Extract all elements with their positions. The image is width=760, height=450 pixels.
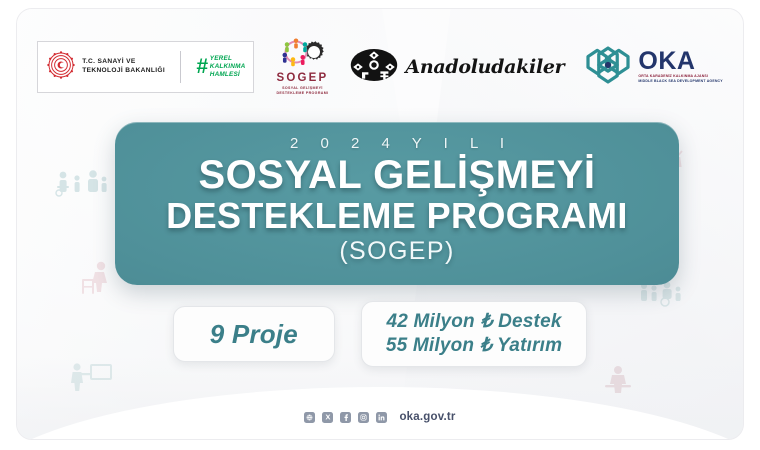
stat-projects-value: 9 Proje xyxy=(210,320,298,349)
decor-worker-icon xyxy=(603,365,635,393)
anadoludakiler-logo: Anadoludakiler xyxy=(350,47,564,88)
facebook-icon[interactable] xyxy=(340,412,351,423)
oka-logo: OKA ORTA KARADENİZ KALKINMA AJANSI MIDDL… xyxy=(586,45,722,90)
yerel-line-2: KALKINMA xyxy=(210,63,246,71)
sogep-gear-people-icon xyxy=(279,37,325,72)
oka-knot-icon xyxy=(586,45,630,90)
website-url[interactable]: oka.gov.tr xyxy=(399,411,455,423)
poster-card: T.C. SANAYİ VE TEKNOLOJİ BAKANLIĞI # YER… xyxy=(16,8,744,440)
stat-card-funding: 42 Milyon ₺ Destek 55 Milyon ₺ Yatırım xyxy=(361,301,587,367)
anadoludakiler-oval-motif-icon xyxy=(350,47,398,88)
oka-logo-text: OKA ORTA KARADENİZ KALKINMA AJANSI MIDDL… xyxy=(638,50,722,84)
ministry-line-2: TEKNOLOJİ BAKANLIĞI xyxy=(82,67,165,76)
oka-wordmark: OKA xyxy=(638,50,695,74)
linkedin-icon[interactable] xyxy=(376,412,387,423)
page-title-acronym: (SOGEP) xyxy=(339,237,454,266)
sogep-logo-subtitle: SOSYAL GELİŞMEYİ DESTEKLEME PROGRAMI xyxy=(276,86,328,97)
decor-people-group-icon xyxy=(55,169,109,199)
hashtag-icon: # xyxy=(196,59,208,76)
yerel-kalkinma-text: YEREL KALKINMA HAMLESİ xyxy=(210,55,246,79)
stats-row: 9 Proje 42 Milyon ₺ Destek 55 Milyon ₺ Y… xyxy=(17,301,743,367)
logo-divider xyxy=(180,51,181,83)
page-title-line-1: SOSYAL GELİŞMEYİ xyxy=(198,155,595,196)
ministry-line-1: T.C. SANAYİ VE xyxy=(82,58,165,67)
website-icon[interactable] xyxy=(304,412,315,423)
background-sweep-bottom xyxy=(17,357,743,440)
stat-support-value: 42 Milyon ₺ Destek xyxy=(386,310,561,334)
footer-bar: oka.gov.tr xyxy=(17,411,743,423)
turkish-republic-emblem-icon xyxy=(46,50,76,85)
sogep-logo: SOGEP SOSYAL GELİŞMEYİ DESTEKLEME PROGRA… xyxy=(276,37,328,96)
ministry-logo-box: T.C. SANAYİ VE TEKNOLOJİ BAKANLIĞI # YER… xyxy=(37,41,254,93)
yerel-line-1: YEREL xyxy=(210,55,246,63)
yerel-kalkinma-logo: # YEREL KALKINMA HAMLESİ xyxy=(189,55,245,79)
stat-investment-value: 55 Milyon ₺ Yatırım xyxy=(386,334,562,358)
yerel-line-3: HAMLESİ xyxy=(210,71,246,79)
x-twitter-icon[interactable] xyxy=(322,412,333,423)
sogep-sub-line-2: DESTEKLEME PROGRAMI xyxy=(276,91,328,96)
decor-elderly-walker-icon xyxy=(80,261,114,297)
anadoludakiler-wordmark: Anadoludakiler xyxy=(405,56,564,78)
ministry-logo: T.C. SANAYİ VE TEKNOLOJİ BAKANLIĞI xyxy=(46,50,172,85)
partner-logo-strip: T.C. SANAYİ VE TEKNOLOJİ BAKANLIĞI # YER… xyxy=(17,33,743,101)
sogep-announcement-poster: T.C. SANAYİ VE TEKNOLOJİ BAKANLIĞI # YER… xyxy=(0,0,760,450)
page-title-line-2: DESTEKLEME PROGRAMI xyxy=(166,198,628,235)
sogep-logo-name: SOGEP xyxy=(276,73,328,85)
ministry-logo-text: T.C. SANAYİ VE TEKNOLOJİ BAKANLIĞI xyxy=(82,58,165,76)
instagram-icon[interactable] xyxy=(358,412,369,423)
oka-sub-line-2: MIDDLE BLACK SEA DEVELOPMENT AGENCY xyxy=(638,79,722,84)
program-year: 2 0 2 4 Y I L I xyxy=(281,135,513,152)
stat-card-projects: 9 Proje xyxy=(173,306,335,362)
main-title-panel: 2 0 2 4 Y I L I SOSYAL GELİŞMEYİ DESTEKL… xyxy=(115,122,679,285)
